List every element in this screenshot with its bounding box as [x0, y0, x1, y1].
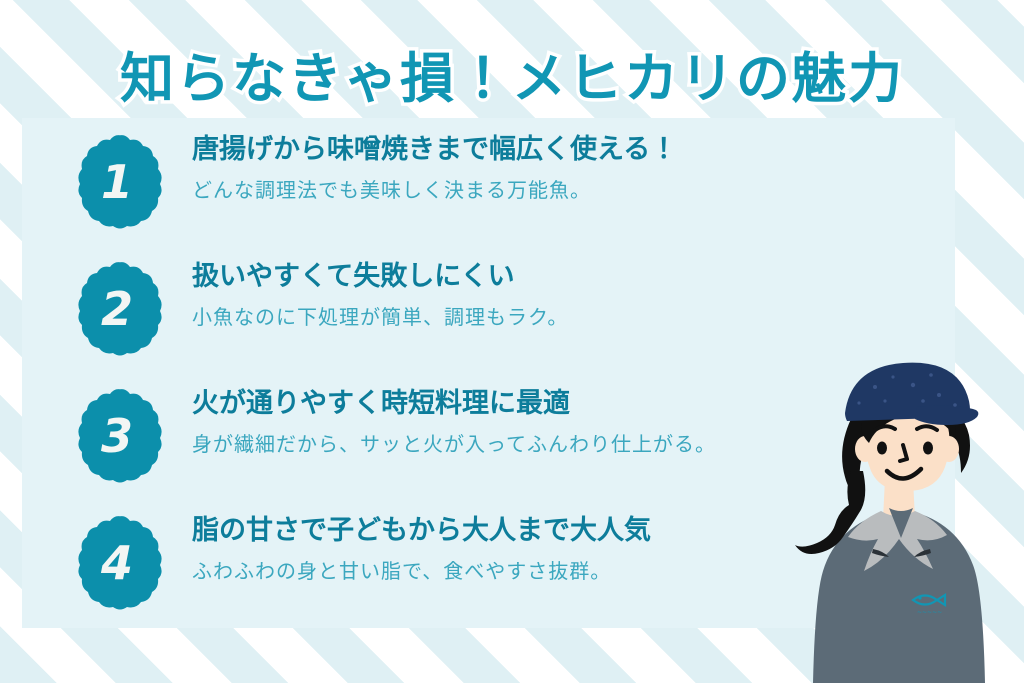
list-item: 1 唐揚げから味噌焼きまで幅広く使える！ どんな調理法でも美味しく決まる万能魚。 — [0, 130, 1024, 257]
page-title-container: 知らなきゃ損！メヒカリの魅力 — [0, 34, 1024, 113]
ear-left — [855, 436, 875, 462]
number-badge: 3 — [72, 388, 162, 486]
item-heading: 扱いやすくて失敗しにくい — [192, 261, 568, 293]
emblem-caption: ~~~~~ — [917, 609, 942, 616]
item-heading: 火が通りやすく時短料理に最適 — [192, 388, 716, 420]
badge-number: 4 — [72, 515, 162, 613]
badge-number: 1 — [72, 134, 162, 232]
eye-left — [877, 442, 887, 455]
number-badge: 4 — [72, 515, 162, 613]
number-badge: 2 — [72, 261, 162, 359]
item-subtext: 小魚なのに下処理が簡単、調理もラク。 — [192, 305, 568, 329]
ear-right — [939, 436, 959, 462]
item-subtext: どんな調理法でも美味しく決まる万能魚。 — [192, 178, 677, 202]
page-title: 知らなきゃ損！メヒカリの魅力 — [120, 34, 904, 113]
item-text-block: 扱いやすくて失敗しにくい 小魚なのに下処理が簡単、調理もラク。 — [162, 257, 568, 329]
eye-right — [923, 442, 933, 455]
item-heading: 脂の甘さで子どもから大人まで大人気 — [192, 515, 651, 547]
item-text-block: 火が通りやすく時短料理に最適 身が繊細だから、サッと火が入ってふんわり仕上がる。 — [162, 384, 716, 456]
badge-number: 2 — [72, 261, 162, 359]
cap-brim — [915, 405, 978, 425]
item-heading: 唐揚げから味噌焼きまで幅広く使える！ — [192, 134, 677, 166]
fisherwoman-illustration: ~~~~~ — [789, 353, 1024, 683]
badge-number: 3 — [72, 388, 162, 486]
number-badge: 1 — [72, 134, 162, 232]
item-text-block: 脂の甘さで子どもから大人まで大人気 ふわふわの身と甘い脂で、食べやすさ抜群。 — [162, 511, 651, 583]
item-subtext: ふわふわの身と甘い脂で、食べやすさ抜群。 — [192, 559, 651, 583]
item-subtext: 身が繊細だから、サッと火が入ってふんわり仕上がる。 — [192, 432, 716, 456]
infographic-poster: 知らなきゃ損！メヒカリの魅力 1 唐揚げから味噌焼きまで幅広く使える！ どんな調… — [0, 0, 1024, 683]
item-text-block: 唐揚げから味噌焼きまで幅広く使える！ どんな調理法でも美味しく決まる万能魚。 — [162, 130, 677, 202]
